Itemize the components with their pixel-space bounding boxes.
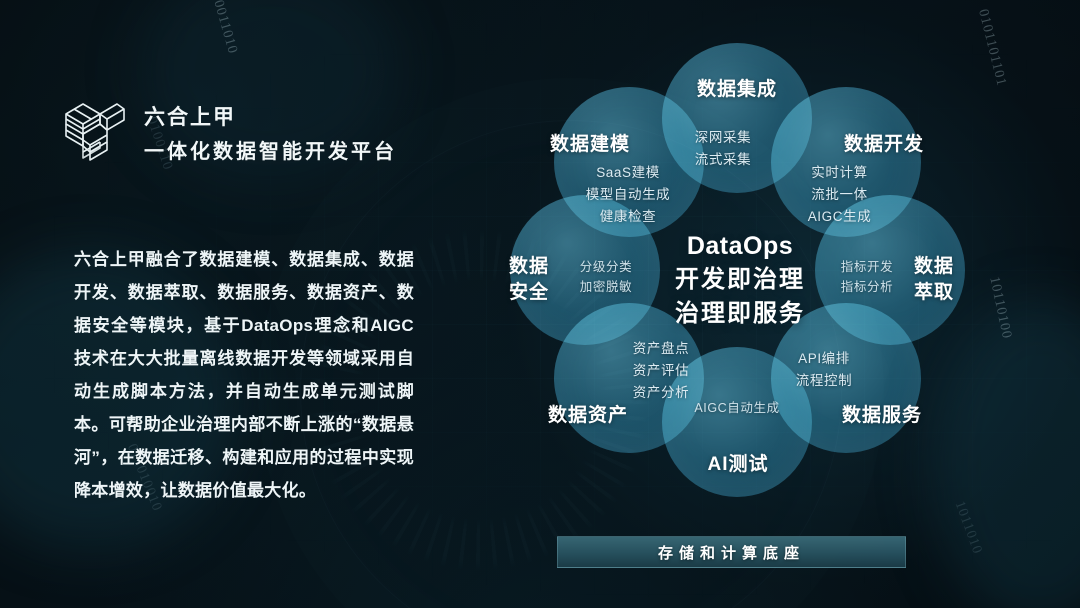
capability-item: 流批一体: [777, 184, 902, 206]
capability-item: 深网采集: [663, 127, 783, 149]
description-paragraph: 六合上甲融合了数据建模、数据集成、数据开发、数据萃取、数据服务、数据资产、数据安…: [74, 243, 414, 507]
capability-item: 资产盘点: [603, 338, 719, 360]
center-title-en: DataOps: [625, 230, 855, 263]
capability-item: SaaS建模: [563, 162, 693, 184]
capability-item: 模型自动生成: [563, 184, 693, 206]
label-data-security: 数据安全: [502, 254, 556, 306]
capability-item: API编排: [766, 348, 882, 370]
label-data-development: 数据开发: [829, 132, 939, 158]
label-data-asset: 数据资产: [533, 403, 643, 429]
capabilities-data-development: 实时计算 流批一体 AIGC生成: [777, 162, 902, 228]
capabilities-data-asset: 资产盘点 资产评估 资产分析: [603, 338, 719, 404]
label-data-integration: 数据集成: [687, 77, 787, 103]
label-data-service: 数据服务: [827, 403, 937, 429]
capability-item: 健康检查: [563, 206, 693, 228]
label-data-modeling: 数据建模: [535, 132, 645, 158]
brand-block: 六合上甲 一体化数据智能开发平台: [62, 96, 397, 168]
center-line-1: 开发即治理: [625, 263, 855, 297]
brand-text: 六合上甲 一体化数据智能开发平台: [144, 101, 397, 164]
slide-canvas: 0110011010 10100110 0101101101 10110100 …: [0, 0, 1080, 608]
capability-item: AIGC自动生成: [667, 398, 807, 418]
capabilities-ai-testing: AIGC自动生成: [667, 398, 807, 418]
capability-item: AIGC生成: [777, 206, 902, 228]
storage-compute-base-bar: 存储和计算底座: [557, 536, 906, 568]
capability-item: 流程控制: [766, 370, 882, 392]
label-data-extraction: 数据萃取: [907, 254, 961, 306]
capabilities-data-service: API编排 流程控制: [766, 348, 882, 392]
center-line-2: 治理即服务: [625, 297, 855, 331]
brand-name: 六合上甲: [144, 101, 397, 131]
diagram-center-text: DataOps 开发即治理 治理即服务: [625, 230, 855, 331]
capabilities-data-modeling: SaaS建模 模型自动生成 健康检查: [563, 162, 693, 228]
brick-cube-icon: [62, 96, 128, 168]
capability-item: 实时计算: [777, 162, 902, 184]
label-ai-testing: AI测试: [688, 452, 788, 478]
capability-item: 资产评估: [603, 360, 719, 382]
base-bar-label: 存储和计算底座: [658, 542, 805, 563]
brand-subtitle: 一体化数据智能开发平台: [144, 135, 397, 164]
venn-diagram: 数据集成 数据建模 数据开发 数据安全 数据萃取 数据资产 数据服务 AI测试 …: [455, 25, 1025, 525]
